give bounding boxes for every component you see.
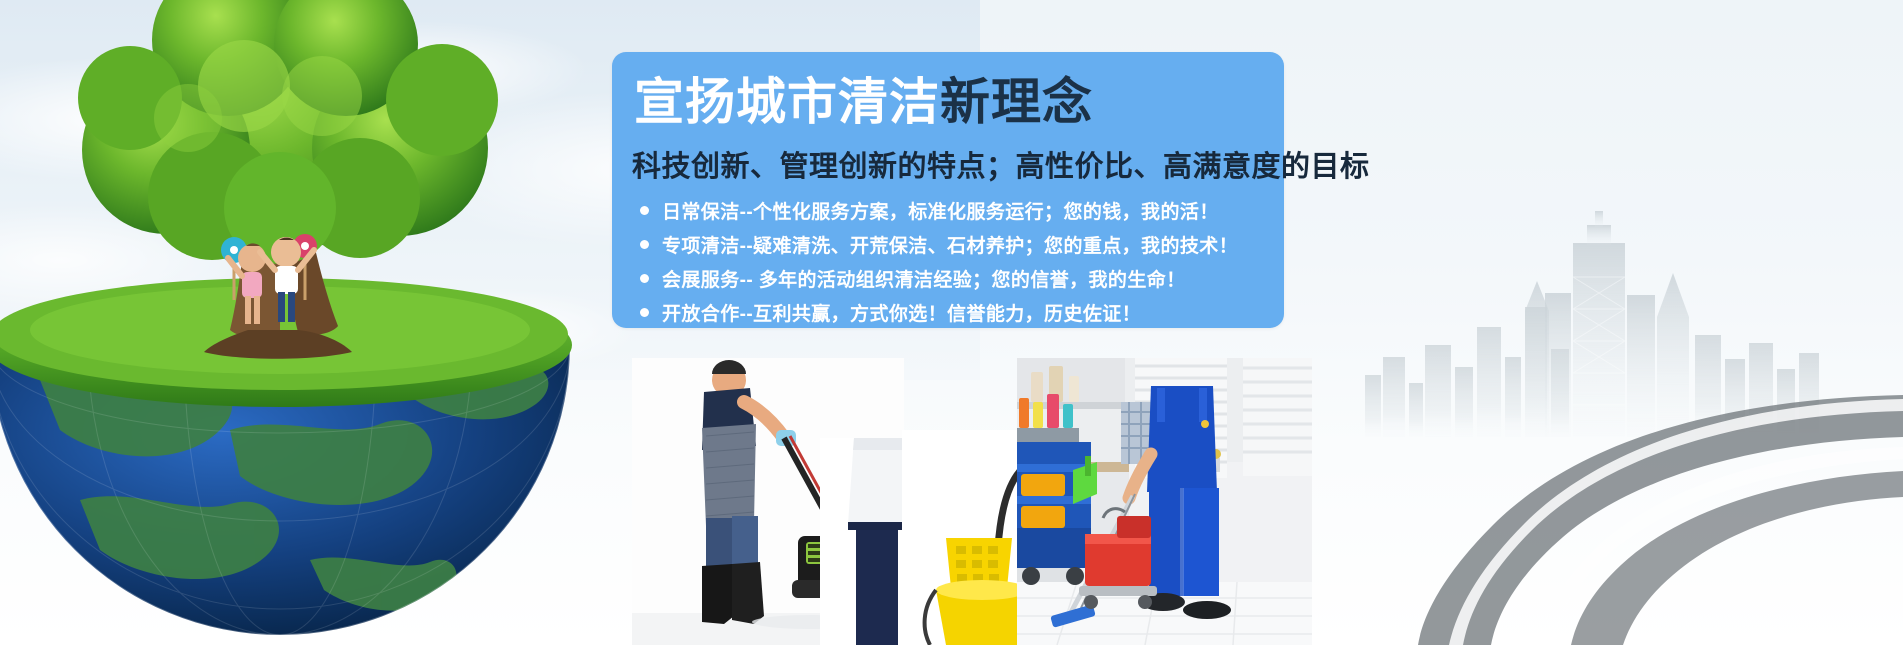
feature-list: 日常保洁--个性化服务方案，标准化服务运行；您的钱，我的活！ 专项清洁--疑难清… [640,193,1380,329]
photo-strip [632,358,1312,645]
list-item: 会展服务-- 多年的活动组织清洁经验；您的信誉，我的生命！ [640,261,1380,295]
bullet-dot-icon [640,274,649,283]
page-title: 宣扬城市清洁新理念 [634,72,1093,132]
list-item-label: 日常保洁--个性化服务方案，标准化服务运行；您的钱，我的活！ [662,197,1219,224]
list-item-label: 专项清洁--疑难清洗、开荒保洁、石材养护；您的重点，我的技术！ [662,231,1238,258]
list-item-label: 开放合作--互利共赢，方式你选！信誉能力，历史佐证！ [662,299,1141,326]
earth-globe-with-tree-artwork [0,0,600,645]
list-item: 专项清洁--疑难清洗、开荒保洁、石材养护；您的重点，我的技术！ [640,227,1380,261]
bullet-dot-icon [640,206,649,215]
tree-foliage [78,0,498,264]
list-item: 日常保洁--个性化服务方案，标准化服务运行；您的钱，我的活！ [640,193,1380,227]
cleaning-service-banner: 宣扬城市清洁新理念 科技创新、管理创新的特点；高性价比、高满意度的目标 日常保洁… [0,0,1903,645]
headline-primary: 宣扬城市清洁 [634,74,940,130]
bullet-dot-icon [640,240,649,249]
list-item: 开放合作--互利共赢，方式你选！信誉能力，历史佐证！ [640,295,1380,329]
list-item-label: 会展服务-- 多年的活动组织清洁经验；您的信誉，我的生命！ [662,265,1186,292]
page-subtitle: 科技创新、管理创新的特点；高性价比、高满意度的目标 [632,143,1370,185]
bullet-dot-icon [640,308,649,317]
headline-accent: 新理念 [940,74,1093,130]
janitor-cart-and-kitchen-cleaner [1017,358,1312,645]
curved-highway-icon [1243,385,1903,645]
